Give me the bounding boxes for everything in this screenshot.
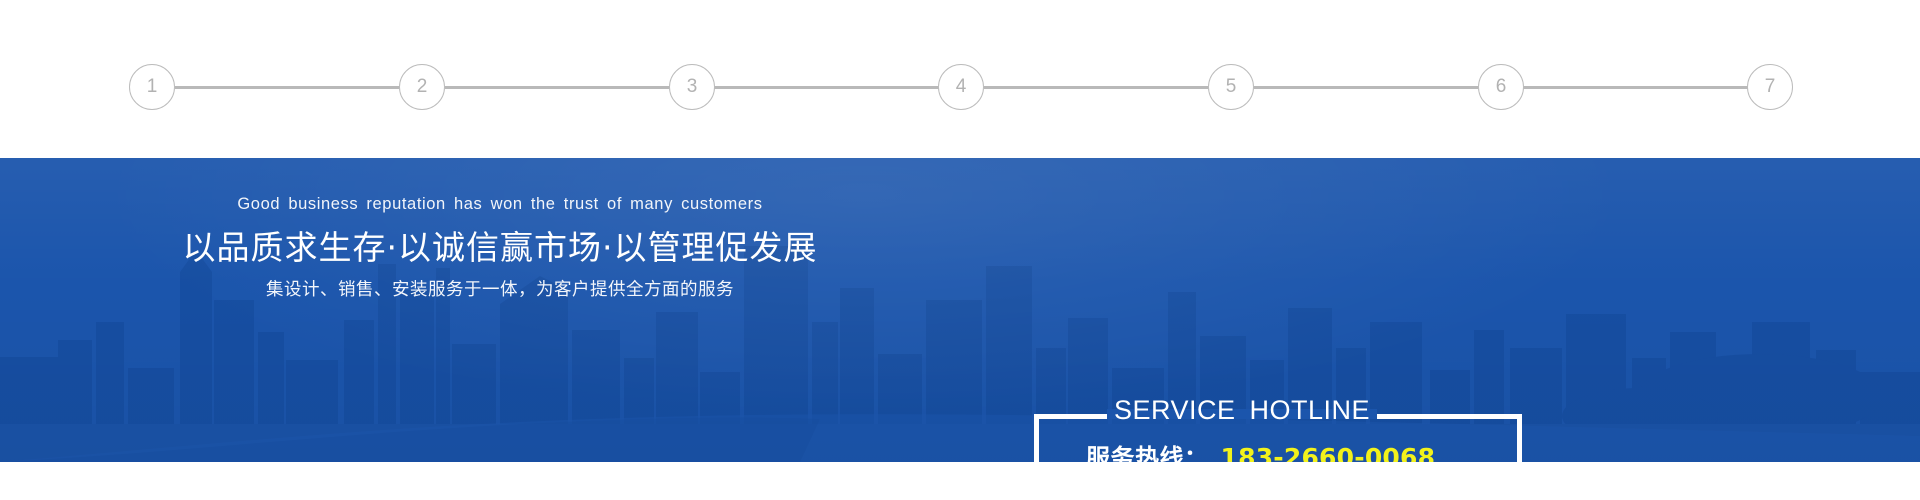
hotline-number-primary[interactable]: 183-2660-0068: [1221, 443, 1436, 462]
slogan-english: Good business reputation has won the tru…: [0, 196, 1000, 231]
service-hotline-block: SERVICE HOTLINE 服务热线： 183-2660-0068 服务热线…: [1034, 414, 1522, 462]
step-connector-6-7: [1523, 86, 1748, 89]
step-connector-4-5: [984, 86, 1208, 89]
hotline-title: SERVICE HOTLINE: [1107, 393, 1377, 427]
step-progress-bar: 1 2 3 4 5 6 7: [0, 0, 1920, 158]
step-node-4[interactable]: 4: [938, 64, 984, 110]
footer-whitespace: [0, 462, 1920, 500]
step-progress-track: 1 2 3 4 5 6 7: [152, 64, 1770, 110]
step-node-6[interactable]: 6: [1478, 64, 1524, 110]
blue-banner: Good business reputation has won the tru…: [0, 158, 1920, 462]
page-root: 1 2 3 4 5 6 7: [0, 0, 1920, 500]
hotline-label: 服务热线：: [1086, 438, 1209, 462]
hotline-row-primary: 服务热线： 183-2660-0068: [1034, 438, 1522, 462]
step-node-5[interactable]: 5: [1208, 64, 1254, 110]
slogan-chinese-subline: 集设计、销售、安装服务于一体，为客户提供全方面的服务: [0, 282, 1000, 300]
step-node-1[interactable]: 1: [129, 64, 175, 110]
step-connector-5-6: [1254, 86, 1478, 89]
step-connector-1-2: [175, 86, 399, 89]
slogan-chinese-headline: 以品质求生存·以诚信赢市场·以管理促发展: [0, 231, 1000, 282]
hotline-numbers-list: 服务热线： 183-2660-0068 服务热线： 0551-63749777: [1034, 438, 1522, 462]
slogan-block: Good business reputation has won the tru…: [0, 196, 1000, 299]
step-node-7[interactable]: 7: [1747, 64, 1793, 110]
step-connector-2-3: [445, 86, 669, 89]
step-node-2[interactable]: 2: [399, 64, 445, 110]
step-connector-3-4: [714, 86, 939, 89]
step-node-3[interactable]: 3: [669, 64, 715, 110]
